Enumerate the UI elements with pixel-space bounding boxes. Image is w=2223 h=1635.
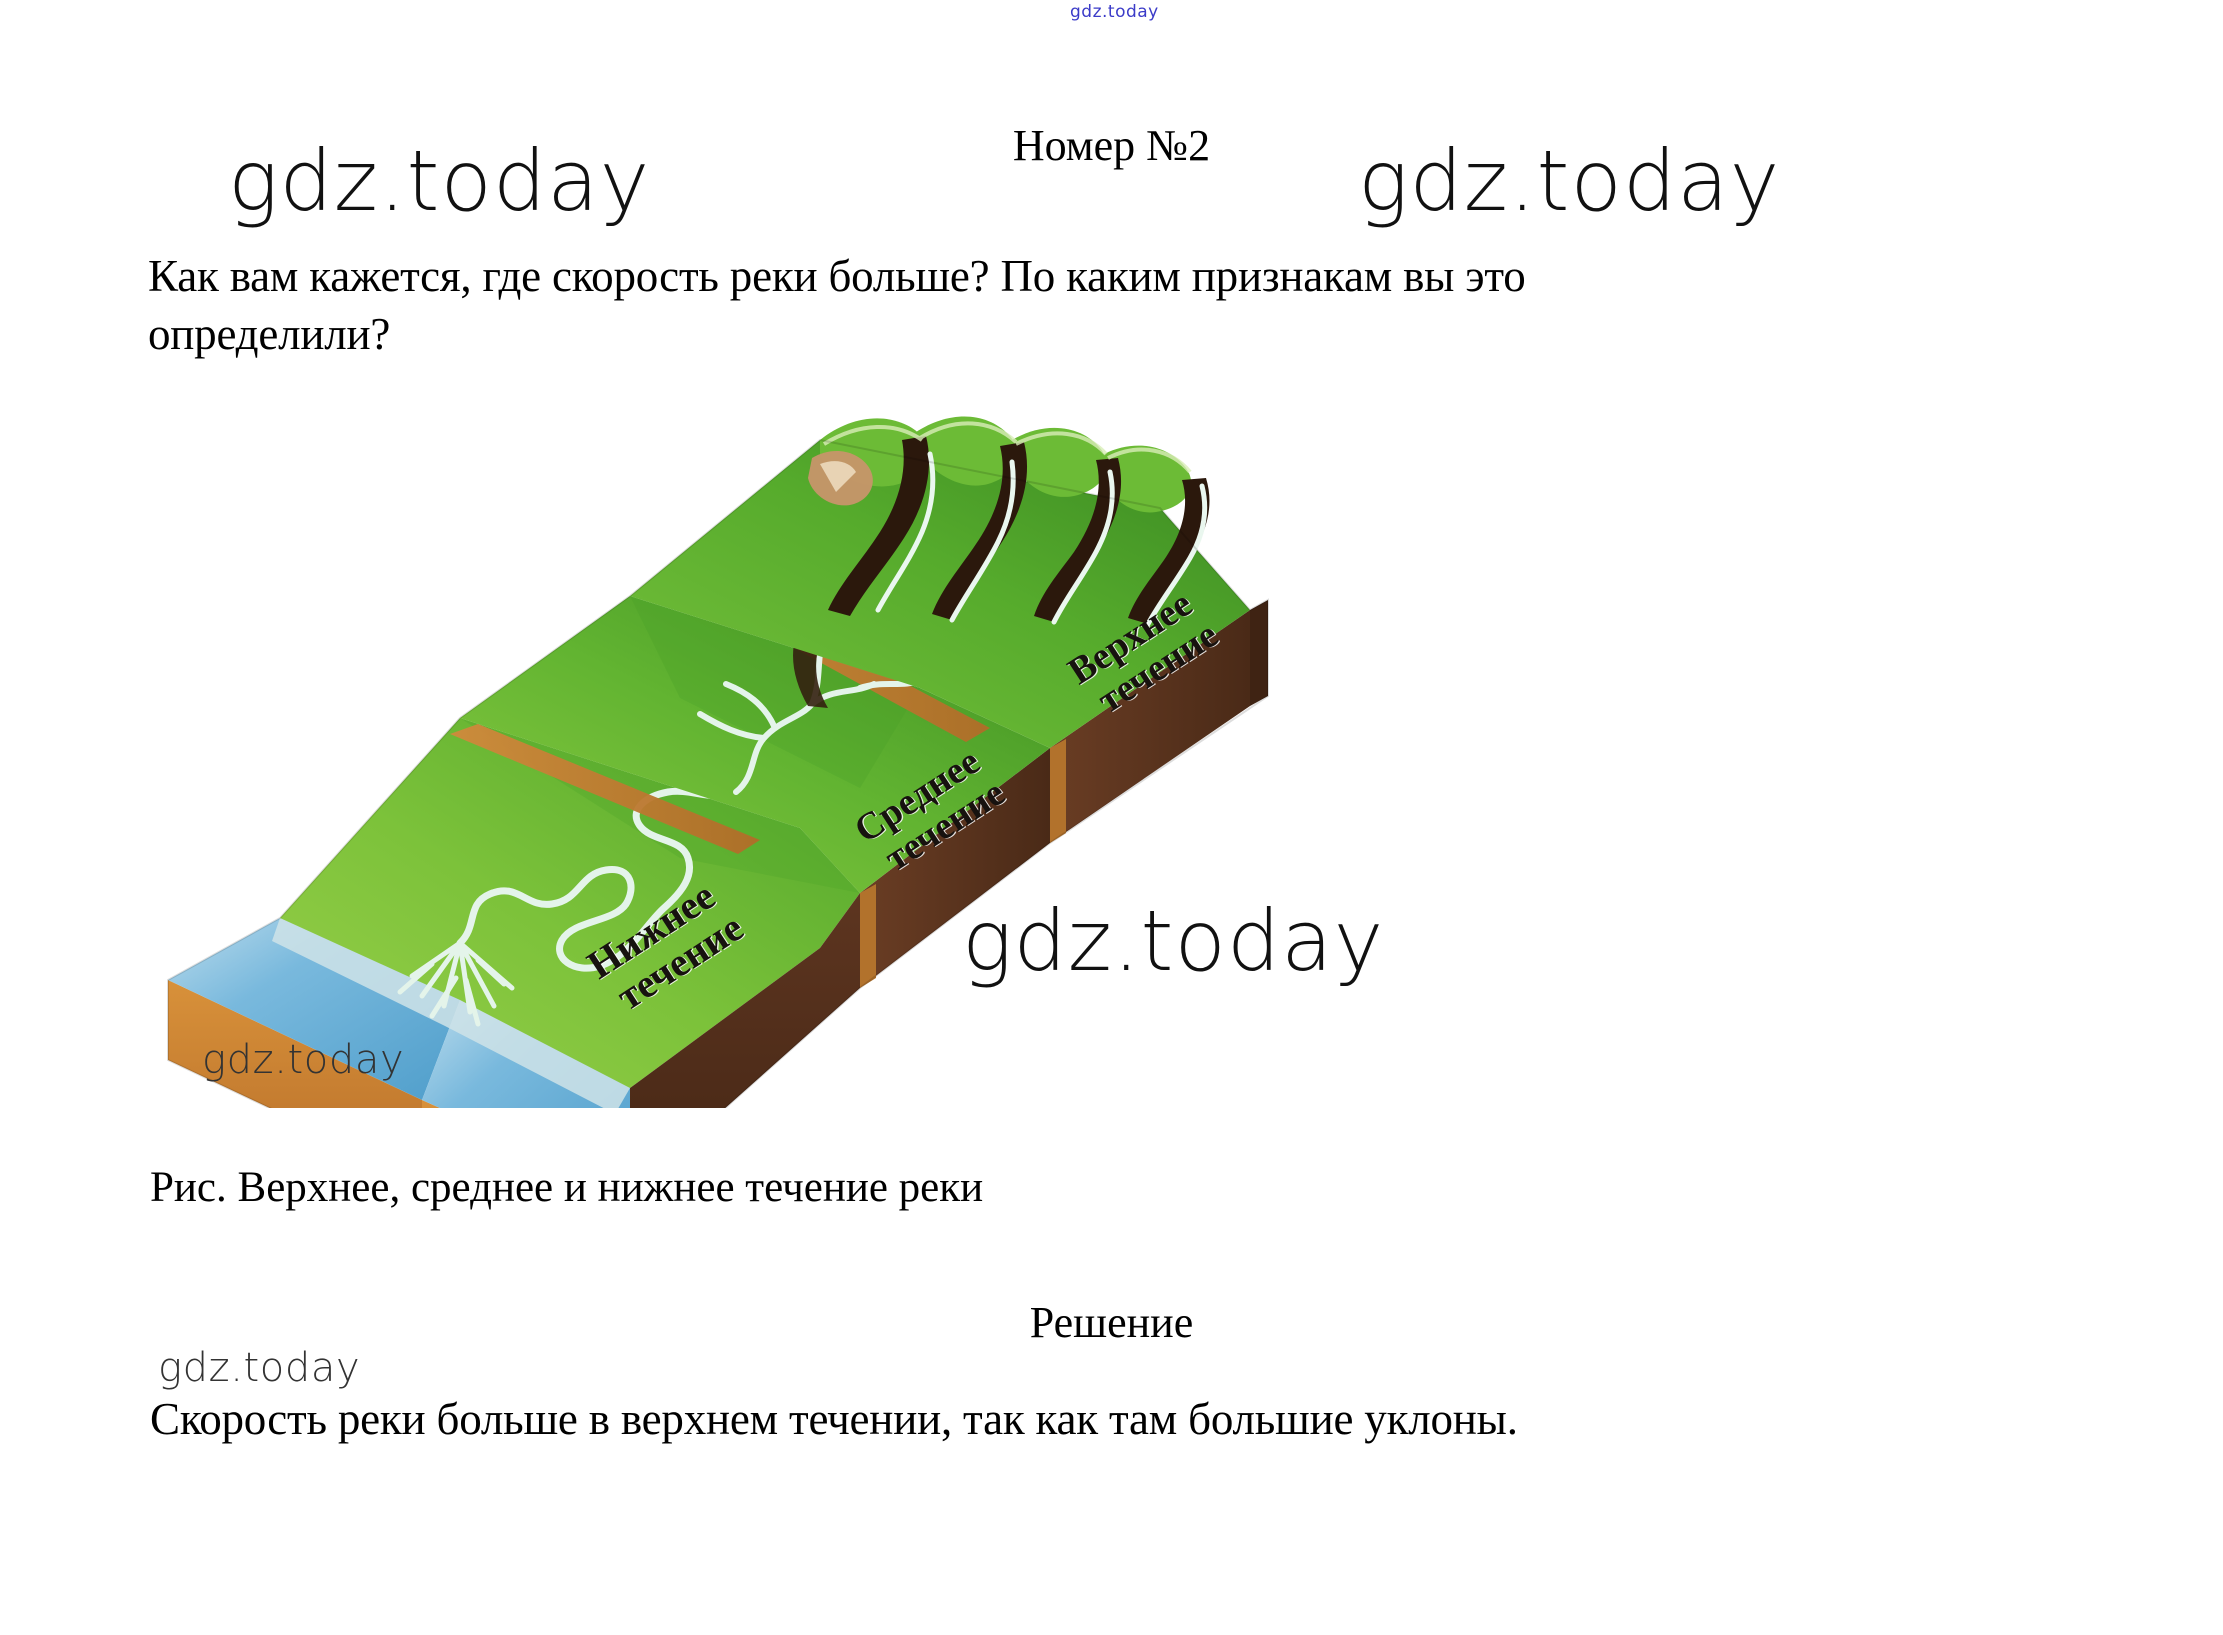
figure-caption: Рис. Верхнее, среднее и нижнее течение р… — [150, 1163, 983, 1212]
question-text: Как вам кажется, где скорость реки больш… — [148, 248, 2068, 363]
watermark-figure: gdz.today — [202, 1037, 404, 1083]
upper-block-edge — [1250, 600, 1268, 706]
river-course-block-diagram — [160, 388, 1280, 1108]
solution-text: Скорость реки больше в верхнем течении, … — [150, 1393, 1518, 1445]
middle-seam-orange — [860, 884, 876, 988]
watermark-big-center: gdz.today — [962, 892, 1384, 990]
question-line-1: Как вам кажется, где скорость реки больш… — [148, 248, 2068, 306]
watermark-top-small: gdz.today — [1070, 2, 1159, 22]
upper-seam-orange — [1050, 739, 1066, 843]
question-line-2: определили? — [148, 306, 2068, 364]
watermark-big-left: gdz.today — [228, 132, 650, 230]
solution-heading: Решение — [0, 1297, 2223, 1348]
diagram-svg — [160, 388, 1280, 1108]
watermark-solution: gdz.today — [158, 1345, 360, 1391]
watermark-big-right: gdz.today — [1358, 132, 1780, 230]
